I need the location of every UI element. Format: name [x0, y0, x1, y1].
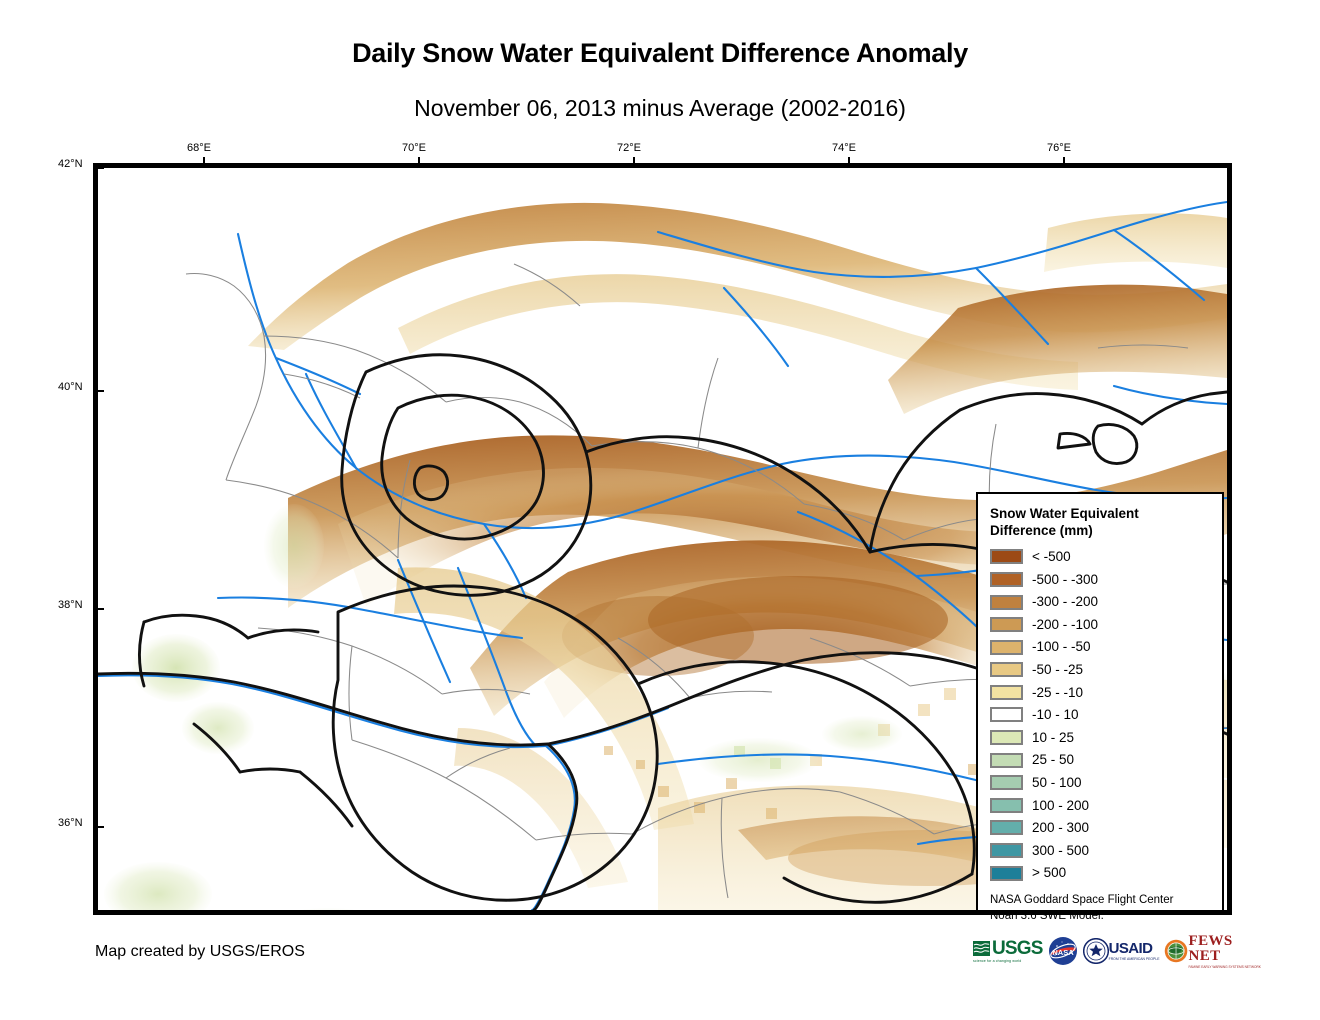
- legend-swatch: [990, 753, 1023, 768]
- legend-swatch: [990, 640, 1023, 655]
- fews-wordmark: FEWS NET: [1189, 934, 1263, 964]
- lat-tick-36: [93, 826, 104, 828]
- lon-label-72: 72°E: [617, 142, 641, 154]
- legend-label: -100 - -50: [1032, 640, 1091, 654]
- legend-label: 10 - 25: [1032, 731, 1074, 745]
- legend-swatch: [990, 685, 1023, 700]
- legend-label: -500 - -300: [1032, 573, 1098, 587]
- legend-source-line1: NASA Goddard Space Flight Center: [990, 893, 1212, 908]
- legend-entry: -100 - -50: [990, 636, 1212, 659]
- fews-globe-icon: [1164, 938, 1188, 964]
- legend-entry: < -500: [990, 546, 1212, 569]
- svg-text:NASA: NASA: [1052, 948, 1074, 957]
- legend-label: 300 - 500: [1032, 844, 1089, 858]
- usaid-seal-icon: [1083, 938, 1109, 964]
- legend-swatch: [990, 662, 1023, 677]
- legend-swatch: [990, 866, 1023, 881]
- lat-tick-40: [93, 390, 104, 392]
- legend-swatch: [990, 798, 1023, 813]
- page-subtitle: November 06, 2013 minus Average (2002-20…: [0, 95, 1320, 122]
- legend-label: -50 - -25: [1032, 663, 1083, 677]
- legend-title-line1: Snow Water Equivalent: [990, 505, 1212, 522]
- legend-title: Snow Water Equivalent Difference (mm): [990, 505, 1212, 540]
- lat-tick-42: [93, 167, 104, 169]
- legend-swatch: [990, 617, 1023, 632]
- usaid-tagline: FROM THE AMERICAN PEOPLE: [1109, 957, 1160, 961]
- legend-entry-list: < -500-500 - -300-300 - -200-200 - -100-…: [990, 546, 1212, 885]
- lon-label-74: 74°E: [832, 142, 856, 154]
- legend-swatch: [990, 549, 1023, 564]
- legend-swatch: [990, 820, 1023, 835]
- usaid-logo: USAID FROM THE AMERICAN PEOPLE: [1083, 936, 1160, 966]
- legend-entry: -10 - 10: [990, 704, 1212, 727]
- legend-entry: > 500: [990, 862, 1212, 885]
- legend-label: -300 - -200: [1032, 595, 1098, 609]
- legend-label: > 500: [1032, 866, 1066, 880]
- lon-tick-74: [848, 157, 850, 168]
- lon-label-70: 70°E: [402, 142, 426, 154]
- legend-entry: -25 - -10: [990, 681, 1212, 704]
- map-legend: Snow Water Equivalent Difference (mm) < …: [976, 492, 1224, 912]
- usaid-wordmark: USAID: [1109, 941, 1160, 956]
- legend-entry: 25 - 50: [990, 749, 1212, 772]
- lat-label-40: 40°N: [58, 381, 83, 393]
- lon-tick-76: [1063, 157, 1065, 168]
- lon-tick-68: [203, 157, 205, 168]
- lat-label-36: 36°N: [58, 817, 83, 829]
- legend-entry: 100 - 200: [990, 794, 1212, 817]
- legend-entry: 300 - 500: [990, 839, 1212, 862]
- lon-tick-70: [418, 157, 420, 168]
- nasa-meatball-icon: NASA: [1048, 936, 1078, 966]
- legend-entry: -50 - -25: [990, 659, 1212, 682]
- legend-source-note: NASA Goddard Space Flight Center Noah 3.…: [990, 893, 1212, 924]
- legend-entry: 10 - 25: [990, 726, 1212, 749]
- legend-entry: -300 - -200: [990, 591, 1212, 614]
- legend-swatch: [990, 843, 1023, 858]
- legend-entry: 200 - 300: [990, 817, 1212, 840]
- lon-tick-72: [633, 157, 635, 168]
- legend-swatch: [990, 730, 1023, 745]
- lat-label-42: 42°N: [58, 158, 83, 170]
- legend-entry: -500 - -300: [990, 568, 1212, 591]
- legend-entry: 50 - 100: [990, 771, 1212, 794]
- usgs-logo: USGS science for a changing world: [973, 936, 1043, 966]
- legend-label: -200 - -100: [1032, 618, 1098, 632]
- legend-label: -25 - -10: [1032, 686, 1083, 700]
- legend-title-line2: Difference (mm): [990, 522, 1212, 539]
- fews-tagline: FAMINE EARLY WARNING SYSTEMS NETWORK: [1189, 965, 1263, 969]
- usgs-wordmark: USGS: [992, 939, 1043, 958]
- lon-label-68: 68°E: [187, 142, 211, 154]
- legend-swatch: [990, 572, 1023, 587]
- legend-swatch: [990, 595, 1023, 610]
- lat-label-38: 38°N: [58, 599, 83, 611]
- legend-label: 200 - 300: [1032, 821, 1089, 835]
- legend-swatch: [990, 775, 1023, 790]
- legend-label: 50 - 100: [1032, 776, 1082, 790]
- usgs-tagline: science for a changing world: [973, 959, 1043, 963]
- usgs-wave-icon: [973, 941, 990, 956]
- fews-net-logo: FEWS NET FAMINE EARLY WARNING SYSTEMS NE…: [1164, 936, 1262, 966]
- legend-swatch: [990, 707, 1023, 722]
- page-title: Daily Snow Water Equivalent Difference A…: [0, 38, 1320, 69]
- legend-label: < -500: [1032, 550, 1071, 564]
- lon-label-76: 76°E: [1047, 142, 1071, 154]
- legend-label: 100 - 200: [1032, 799, 1089, 813]
- legend-entry: -200 - -100: [990, 613, 1212, 636]
- agency-logo-strip: USGS science for a changing world NASA U…: [973, 934, 1228, 968]
- legend-label: -10 - 10: [1032, 708, 1079, 722]
- nasa-logo: NASA: [1048, 936, 1078, 966]
- lat-tick-38: [93, 608, 104, 610]
- map-credit: Map created by USGS/EROS: [95, 943, 305, 961]
- legend-source-line2: Noah 3.6 SWE Model.: [990, 909, 1212, 924]
- legend-label: 25 - 50: [1032, 753, 1074, 767]
